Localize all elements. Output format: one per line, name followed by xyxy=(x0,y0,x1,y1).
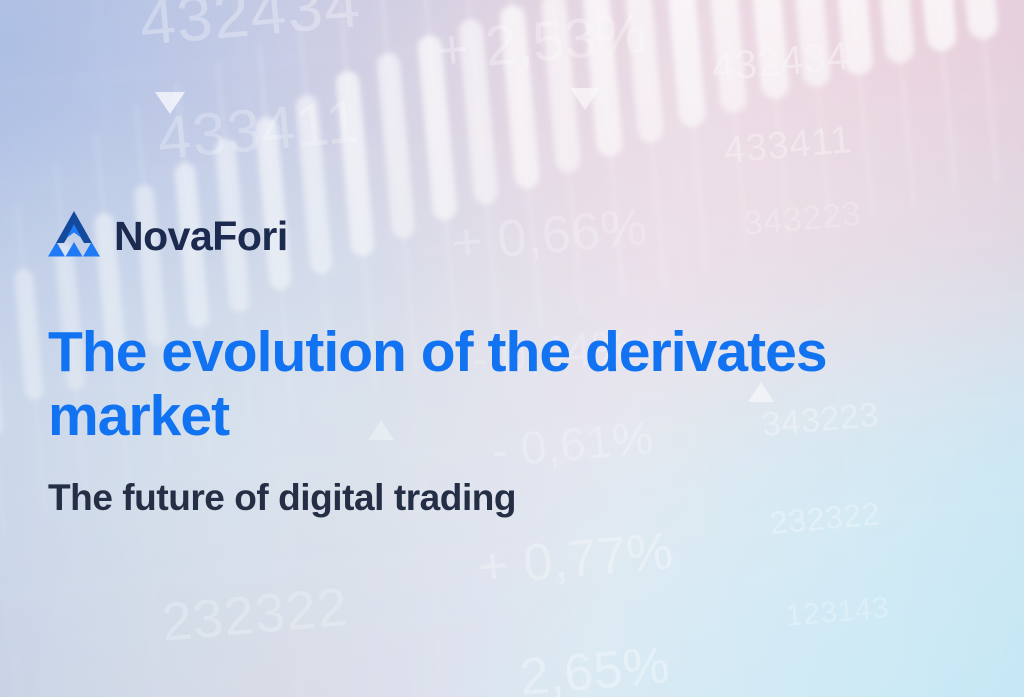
trend-arrow-down-icon xyxy=(155,92,185,114)
ticker-number: 433411 xyxy=(155,86,363,172)
percent-change-label: + 2,53% xyxy=(433,0,649,83)
novafori-logo[interactable]: NovaFori xyxy=(48,204,908,268)
percent-change-label: + 0,77% xyxy=(475,521,675,598)
percent-change-label: 2,65% xyxy=(517,635,672,697)
headline: The evolution of the derivates market xyxy=(48,268,838,449)
ticker-number: 433411 xyxy=(722,119,854,173)
marketing-banner: 4324344334112323224324344334113432233432… xyxy=(0,0,1024,697)
trend-arrow-down-icon xyxy=(570,88,600,110)
subtitle: The future of digital trading xyxy=(48,449,908,520)
ticker-number: 432434 xyxy=(137,0,364,60)
ticker-number: 232322 xyxy=(159,576,350,654)
ticker-number: 123143 xyxy=(785,591,891,634)
logo-wordmark: NovaFori xyxy=(114,216,288,257)
ticker-number: 432434 xyxy=(710,34,852,91)
banner-content: NovaFori The evolution of the derivates … xyxy=(48,204,908,520)
mountain-peaks-logo-icon xyxy=(48,211,100,261)
